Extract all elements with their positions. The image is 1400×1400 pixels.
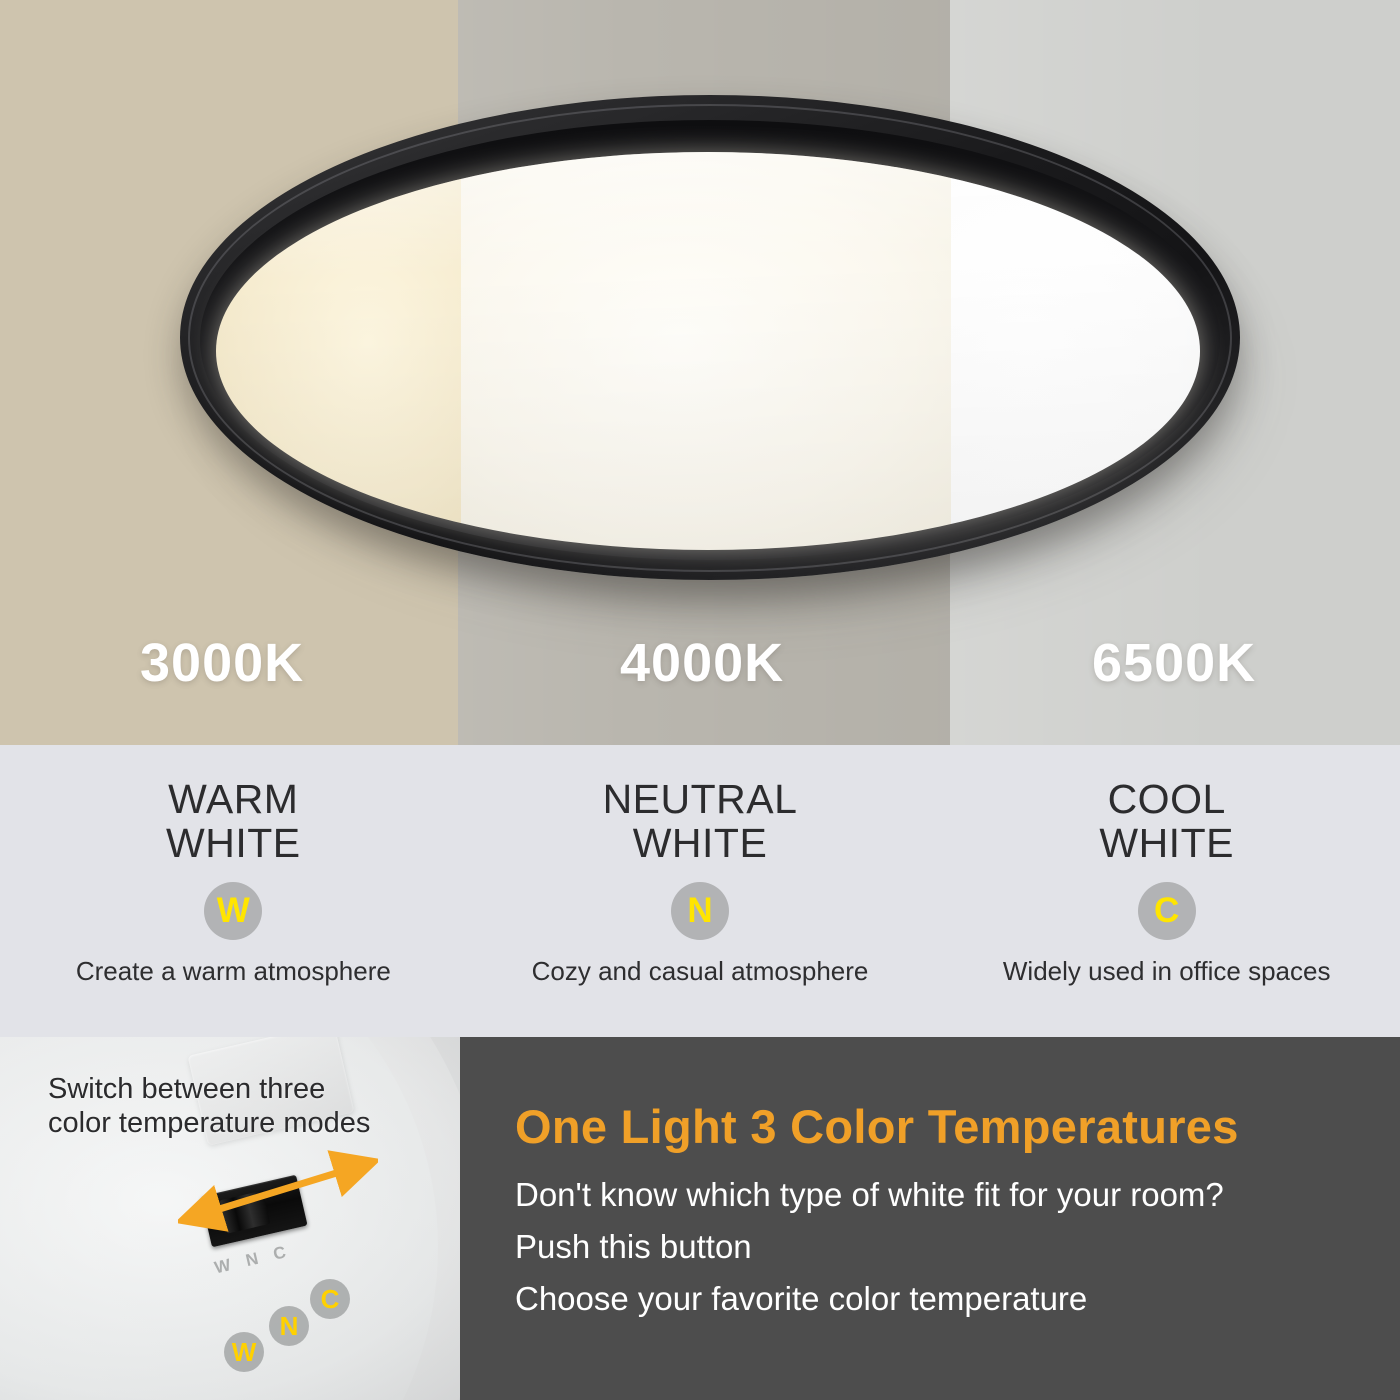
light-diffuser [216, 152, 1200, 550]
mode-title-neutral: NEUTRAL WHITE [603, 777, 798, 866]
mode-title-cool-line2: WHITE [1099, 820, 1234, 866]
mode-caption-cool: Widely used in office spaces [1003, 956, 1331, 987]
mode-column-warm: WARM WHITE W Create a warm atmosphere [0, 745, 467, 1037]
photo-badge-w: W [224, 1332, 264, 1372]
slide-direction-arrow-icon [178, 1145, 378, 1240]
product-infographic: 3000K 4000K 6500K WARM WHITE W Create a … [0, 0, 1400, 1400]
switch-caption-line2: color temperature modes [48, 1107, 370, 1139]
mode-badge-n: N [671, 882, 729, 940]
switch-photo-caption: Switch between three color temperature m… [48, 1073, 370, 1140]
diffuser-gloss [216, 152, 1200, 550]
hero-section: 3000K 4000K 6500K [0, 0, 1400, 745]
promo-line-3: Choose your favorite color temperature [515, 1280, 1400, 1318]
mode-column-neutral: NEUTRAL WHITE N Cozy and casual atmosphe… [467, 745, 934, 1037]
kelvin-label-3000k: 3000K [140, 632, 304, 694]
photo-badge-n: N [269, 1306, 309, 1346]
kelvin-label-row: 3000K 4000K 6500K [0, 632, 1400, 708]
kelvin-label-4000k: 4000K [620, 632, 784, 694]
promo-line-1: Don't know which type of white fit for y… [515, 1176, 1400, 1214]
mode-title-warm-line1: WARM [168, 776, 298, 822]
photo-badge-c: C [310, 1279, 350, 1319]
mode-caption-warm: Create a warm atmosphere [76, 956, 391, 987]
mode-title-neutral-line2: WHITE [633, 820, 768, 866]
switch-caption-line1: Switch between three [48, 1073, 325, 1105]
mode-column-cool: COOL WHITE C Widely used in office space… [933, 745, 1400, 1037]
mode-title-neutral-line1: NEUTRAL [603, 776, 798, 822]
mode-badge-c: C [1138, 882, 1196, 940]
mode-title-warm-line2: WHITE [166, 820, 301, 866]
mode-caption-neutral: Cozy and casual atmosphere [532, 956, 869, 987]
promo-panel: One Light 3 Color Temperatures Don't kno… [460, 1037, 1400, 1400]
mode-badge-w: W [204, 882, 262, 940]
promo-headline: One Light 3 Color Temperatures [515, 1099, 1400, 1154]
mode-title-cool: COOL WHITE [1099, 777, 1234, 866]
promo-line-2: Push this button [515, 1228, 1400, 1266]
mode-title-warm: WARM WHITE [166, 777, 301, 866]
mode-descriptor-section: WARM WHITE W Create a warm atmosphere NE… [0, 745, 1400, 1037]
mode-title-cool-line1: COOL [1108, 776, 1226, 822]
kelvin-label-6500k: 6500K [1092, 632, 1256, 694]
